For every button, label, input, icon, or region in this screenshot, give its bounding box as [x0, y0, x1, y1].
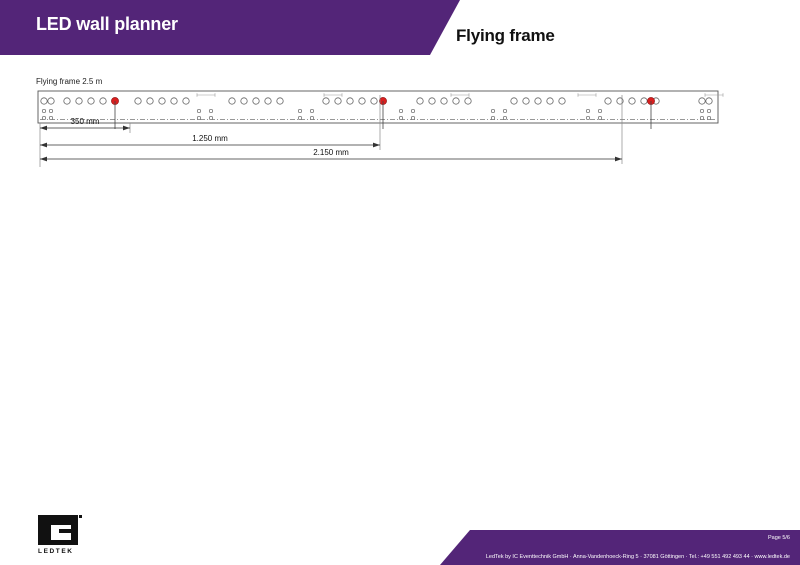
mounting-hole [76, 98, 82, 104]
page-header: LED wall planner Flying frame [0, 0, 800, 55]
technical-drawing: Flying frame 2.5 m 350 mm1.250 mm2.150 m… [0, 55, 800, 515]
mounting-hole [147, 98, 153, 104]
mounting-hole [347, 98, 353, 104]
secondary-hole [49, 116, 52, 119]
mounting-hole [88, 98, 94, 104]
mounting-hole [605, 98, 611, 104]
secondary-hole [399, 116, 402, 119]
dimension-arrow-left [40, 126, 47, 131]
secondary-hole [598, 116, 601, 119]
secondary-hole [411, 109, 414, 112]
mounting-hole [559, 98, 565, 104]
dimension-arrow-right [615, 157, 622, 162]
secondary-hole [707, 109, 710, 112]
secondary-hole [310, 116, 313, 119]
mounting-hole [323, 98, 329, 104]
mounting-hole [641, 98, 647, 104]
secondary-hole [298, 109, 301, 112]
secondary-hole [707, 116, 710, 119]
secondary-hole [700, 109, 703, 112]
mounting-hole [706, 98, 712, 104]
secondary-hole [197, 116, 200, 119]
mounting-hole [171, 98, 177, 104]
ledtek-logo: LEDTEK [38, 515, 82, 557]
secondary-hole [586, 109, 589, 112]
secondary-hole [491, 116, 494, 119]
mounting-hole [417, 98, 423, 104]
mounting-hole [511, 98, 517, 104]
secondary-hole [42, 116, 45, 119]
page-number: Page 5/6 [768, 535, 790, 541]
dimension-label: 350 mm [71, 117, 100, 126]
mounting-hole [277, 98, 283, 104]
mounting-hole [547, 98, 553, 104]
dimension-arrow-right [123, 126, 130, 131]
mounting-hole [523, 98, 529, 104]
truss-body [38, 91, 718, 123]
dimension-line: 2.150 mm [40, 148, 622, 161]
page-title: LED wall planner [36, 14, 178, 35]
mounting-hole [135, 98, 141, 104]
mounting-hole [41, 98, 47, 104]
mounting-hole [629, 98, 635, 104]
mounting-hole [253, 98, 259, 104]
secondary-hole [42, 109, 45, 112]
mounting-hole [335, 98, 341, 104]
mounting-hole [453, 98, 459, 104]
secondary-hole [310, 109, 313, 112]
secondary-hole [586, 116, 589, 119]
secondary-hole [209, 109, 212, 112]
secondary-hole [491, 109, 494, 112]
mounting-hole [241, 98, 247, 104]
secondary-hole [49, 109, 52, 112]
mounting-hole [64, 98, 70, 104]
mounting-hole [535, 98, 541, 104]
mounting-hole [441, 98, 447, 104]
flying-frame-diagram: 350 mm1.250 mm2.150 mm [0, 55, 800, 515]
mounting-hole [265, 98, 271, 104]
dimension-label: 1.250 mm [192, 134, 228, 143]
dimension-arrow-left [40, 143, 47, 148]
secondary-hole [197, 109, 200, 112]
mounting-hole [429, 98, 435, 104]
page-footer: Page 5/6 LedTek by IC Eventtechnik GmbH … [0, 515, 800, 565]
dimension-arrow-right [373, 143, 380, 148]
dimension-arrow-left [40, 157, 47, 162]
footer-purple-band: Page 5/6 LedTek by IC Eventtechnik GmbH … [440, 530, 800, 565]
mounting-hole [100, 98, 106, 104]
dimension-line: 1.250 mm [40, 134, 380, 147]
mounting-hole [183, 98, 189, 104]
secondary-hole [399, 109, 402, 112]
company-address: LedTek by IC Eventtechnik GmbH · Anna-Va… [486, 554, 790, 560]
logo-glyph-icon [38, 515, 82, 547]
secondary-hole [700, 116, 703, 119]
mounting-hole [465, 98, 471, 104]
mounting-hole [159, 98, 165, 104]
secondary-hole [598, 109, 601, 112]
secondary-hole [503, 116, 506, 119]
secondary-hole [411, 116, 414, 119]
mounting-hole [359, 98, 365, 104]
mounting-hole [48, 98, 54, 104]
secondary-hole [503, 109, 506, 112]
dimension-label: 2.150 mm [313, 148, 349, 157]
secondary-hole [298, 116, 301, 119]
secondary-hole [209, 116, 212, 119]
logo-wordmark: LEDTEK [38, 548, 82, 555]
mounting-hole [699, 98, 705, 104]
page-subtitle: Flying frame [456, 26, 555, 46]
mounting-hole [371, 98, 377, 104]
mounting-hole [229, 98, 235, 104]
